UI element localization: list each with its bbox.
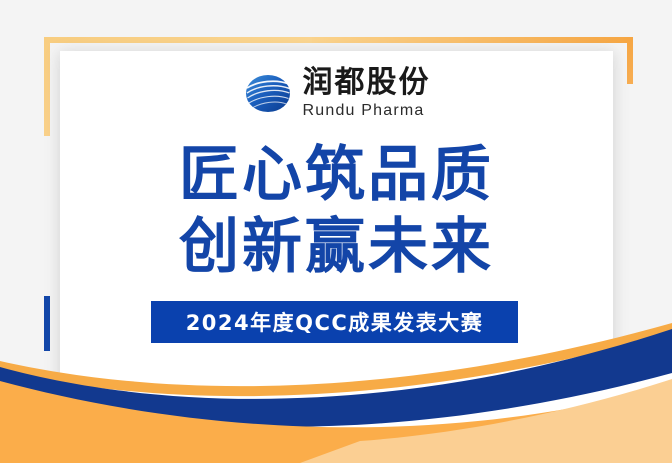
rundu-globe-emblem-icon — [243, 71, 293, 116]
brand-name-cn: 润都股份 — [303, 68, 431, 98]
headline-block: 匠心筑品质 创新赢未来 — [60, 139, 613, 283]
bottom-wave-decoration — [0, 323, 672, 463]
headline-line-2: 创新赢未来 — [60, 211, 613, 283]
brand-name-en: Rundu Pharma — [303, 103, 425, 119]
corner-bracket-top-left-vertical — [44, 37, 50, 136]
corner-bracket-top-right-vertical — [627, 37, 633, 84]
brand-logo-text: 润都股份 Rundu Pharma — [303, 68, 431, 119]
corner-bracket-top-right-horizontal — [312, 37, 633, 43]
headline-line-1: 匠心筑品质 — [60, 139, 613, 211]
brand-logo: 润都股份 Rundu Pharma — [60, 68, 613, 119]
poster-canvas: 润都股份 Rundu Pharma 匠心筑品质 创新赢未来 2024年度QCC成… — [0, 0, 672, 463]
